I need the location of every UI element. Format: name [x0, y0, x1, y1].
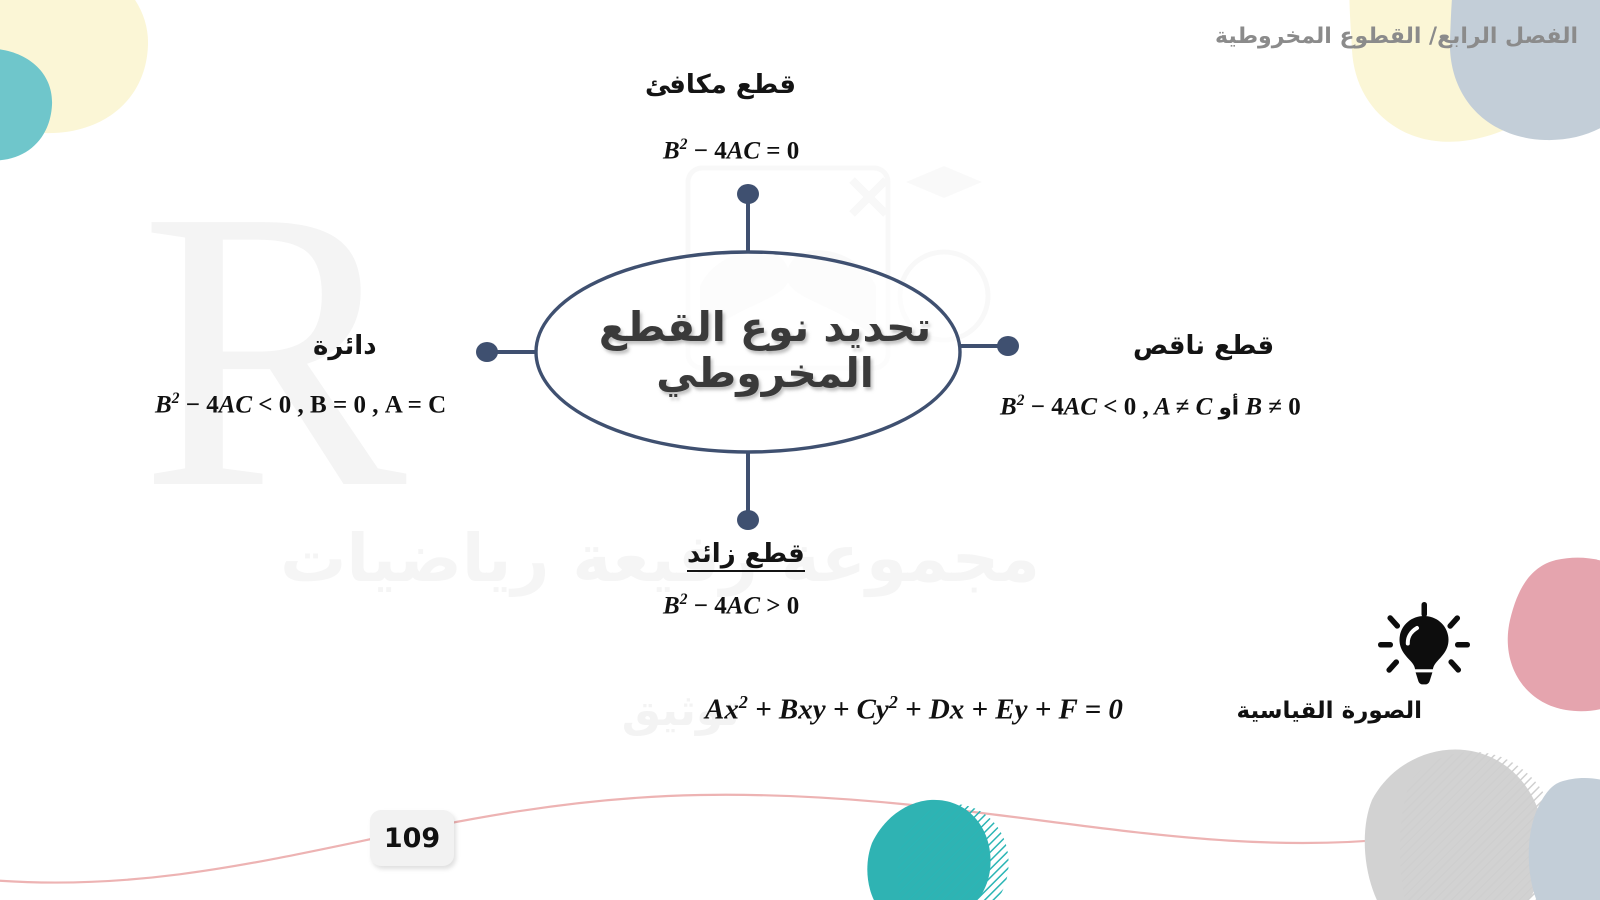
page-number-badge: 109 [370, 810, 454, 866]
standard-form-row: الصورة القياسية Ax2 + Bxy + Cy2 + Dx + E… [0, 690, 1600, 760]
node-title-ellipse: قطع ناقص [1133, 331, 1274, 361]
lightbulb-icon [1378, 602, 1470, 686]
connector-dot-top [737, 184, 759, 204]
page-title: الفصل الرابع/ القطوع المخروطية [1215, 24, 1578, 49]
mindmap-connectors [0, 0, 1600, 900]
connector-dot-right [997, 336, 1019, 356]
node-formula-circle: B2 − 4AC < 0 , B = 0 , A = C [155, 390, 446, 419]
slide-canvas: R مجموعة رفيعة رياضيات توثيق الفصل الراب… [0, 0, 1600, 900]
node-formula-hyperbola: B2 − 4AC > 0 [663, 591, 799, 620]
center-ellipse-shape [536, 252, 960, 452]
node-title-hyperbola: قطع زائد [687, 539, 805, 572]
standard-form-formula: Ax2 + Bxy + Cy2 + Dx + Ey + F = 0 [705, 692, 1123, 727]
node-formula-ellipse: B2 − 4AC < 0 , A ≠ C أو B ≠ 0 [1000, 392, 1301, 421]
mindmap-diagram: تحديد نوع القطع المخروطي قطع مكافئ B2 − … [0, 0, 1600, 900]
node-title-circle: دائرة [313, 331, 377, 361]
connector-dot-left [476, 342, 498, 362]
node-formula-parabola: B2 − 4AC = 0 [663, 136, 799, 165]
node-title-parabola: قطع مكافئ [645, 70, 796, 100]
standard-form-label: الصورة القياسية [1237, 698, 1422, 724]
connector-dot-bottom [737, 510, 759, 530]
